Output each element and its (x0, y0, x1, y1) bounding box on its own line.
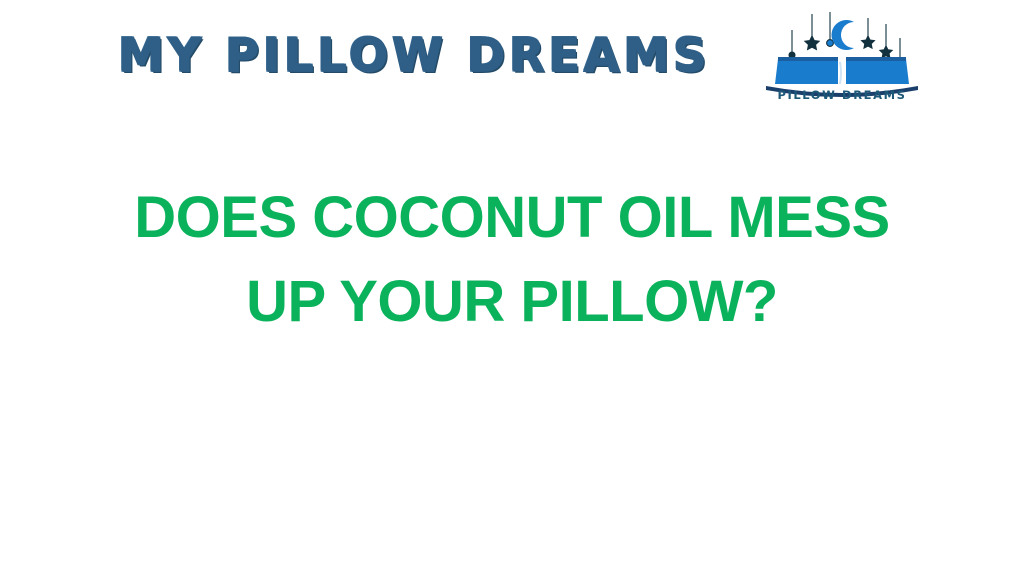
headline-line-1: DOES COCONUT OIL MESS (0, 176, 1024, 260)
logo-wordmark: PILLOW DREAMS (762, 88, 922, 102)
page-title: DOES COCONUT OIL MESS UP YOUR PILLOW? (0, 176, 1024, 344)
brand-logo: PILLOW DREAMS (762, 4, 922, 116)
headline-line-2: UP YOUR PILLOW? (0, 260, 1024, 344)
header: MY PILLOW DREAMS (0, 0, 1024, 125)
brand-title: MY PILLOW DREAMS (118, 26, 710, 84)
pillow-pair-icon (775, 57, 909, 84)
crescent-moon-icon (832, 20, 854, 50)
empty-content-area (0, 340, 1024, 576)
slide-canvas: MY PILLOW DREAMS (0, 0, 1024, 576)
